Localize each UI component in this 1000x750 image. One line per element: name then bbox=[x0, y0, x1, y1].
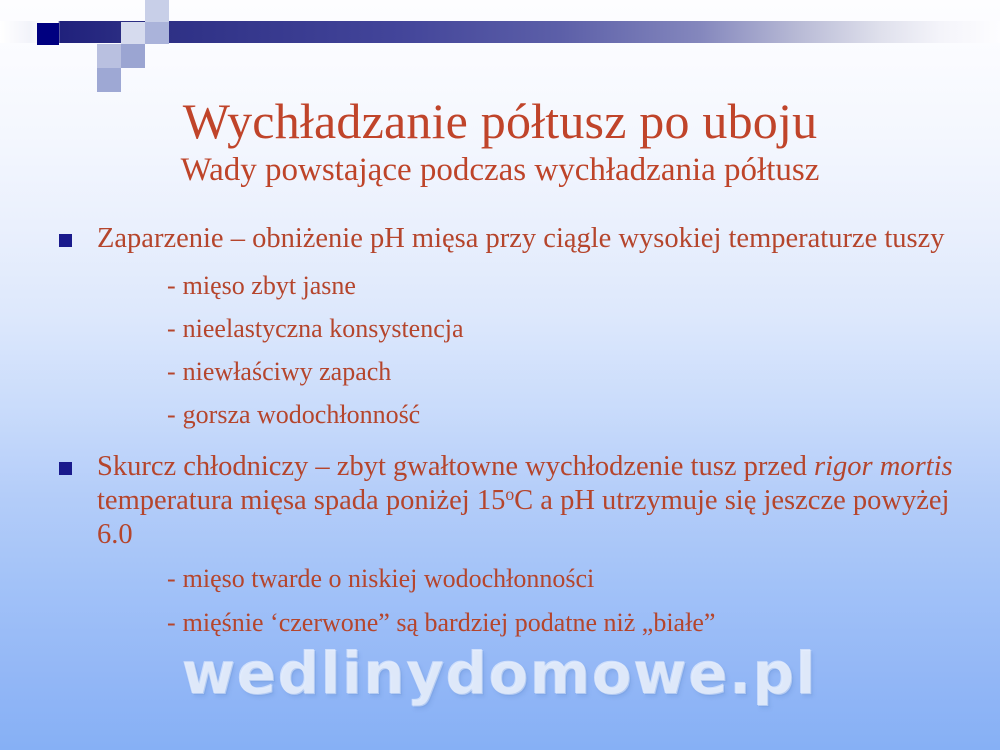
page-title: Wychładzanie półtusz po uboju bbox=[0, 95, 1000, 148]
decorative-square-mid-right bbox=[121, 44, 145, 68]
decorative-square-navy bbox=[37, 23, 59, 45]
bullet-item-2: Skurcz chłodniczy – zbyt gwałtowne wychł… bbox=[55, 450, 955, 551]
dash-marker: - bbox=[167, 564, 176, 593]
sub-item: -mięso zbyt jasne bbox=[55, 270, 955, 301]
sub-item: -mięśnie ‘czerwone” są bardziej podatne … bbox=[55, 607, 955, 638]
sub-item-label: mięśnie ‘czerwone” są bardziej podatne n… bbox=[183, 608, 716, 637]
sub-item-label: mięso twarde o niskiej wodochłonności bbox=[183, 564, 595, 593]
bullet-2-text-part2: temperatura mięsa spada poniżej 15 bbox=[97, 485, 505, 516]
sub-item: -gorsza wodochłonność bbox=[55, 399, 955, 430]
dash-marker: - bbox=[167, 608, 176, 637]
sub-item-label: gorsza wodochłonność bbox=[183, 400, 421, 429]
bullet-2-text-italic: rigor mortis bbox=[814, 451, 953, 482]
dash-marker: - bbox=[167, 271, 176, 300]
decorative-square-light-top bbox=[121, 22, 145, 44]
sub-item-label: niewłaściwy zapach bbox=[183, 357, 392, 386]
square-bullet-icon bbox=[59, 462, 72, 475]
sub-item: -niewłaściwy zapach bbox=[55, 356, 955, 387]
slide-body: Zaparzenie – obniżenie pH mięsa przy cią… bbox=[55, 222, 955, 638]
slide-canvas: Wychładzanie półtusz po uboju Wady powst… bbox=[0, 0, 1000, 750]
sub-item-label: mięso zbyt jasne bbox=[183, 271, 356, 300]
bullet-item-1: Zaparzenie – obniżenie pH mięsa przy cią… bbox=[55, 222, 955, 256]
sub-list-1: -mięso zbyt jasne -nieelastyczna konsyst… bbox=[55, 270, 955, 431]
sub-item-label: nieelastyczna konsystencja bbox=[183, 314, 464, 343]
title-block: Wychładzanie półtusz po uboju Wady powst… bbox=[0, 95, 1000, 188]
degree-superscript: o bbox=[505, 484, 514, 504]
bullet-2-text-part1: Skurcz chłodniczy – zbyt gwałtowne wychł… bbox=[97, 451, 814, 482]
decorative-square-mid-left bbox=[97, 44, 121, 68]
sub-item: -mięso twarde o niskiej wodochłonności bbox=[55, 563, 955, 594]
sub-item: -nieelastyczna konsystencja bbox=[55, 313, 955, 344]
watermark-text: wedlinydomowe.pl bbox=[0, 640, 1000, 708]
decorative-square-pale-middle bbox=[145, 22, 169, 44]
dash-marker: - bbox=[167, 400, 176, 429]
square-bullet-icon bbox=[59, 234, 72, 247]
bullet-1-text: Zaparzenie – obniżenie pH mięsa przy cią… bbox=[97, 223, 945, 254]
dash-marker: - bbox=[167, 314, 176, 343]
page-subtitle: Wady powstające podczas wychładzania pół… bbox=[0, 152, 1000, 189]
dash-marker: - bbox=[167, 357, 176, 386]
decorative-square-pale-top bbox=[145, 0, 169, 22]
sub-list-2: -mięso twarde o niskiej wodochłonności -… bbox=[55, 563, 955, 637]
decorative-square-lower bbox=[97, 68, 121, 92]
